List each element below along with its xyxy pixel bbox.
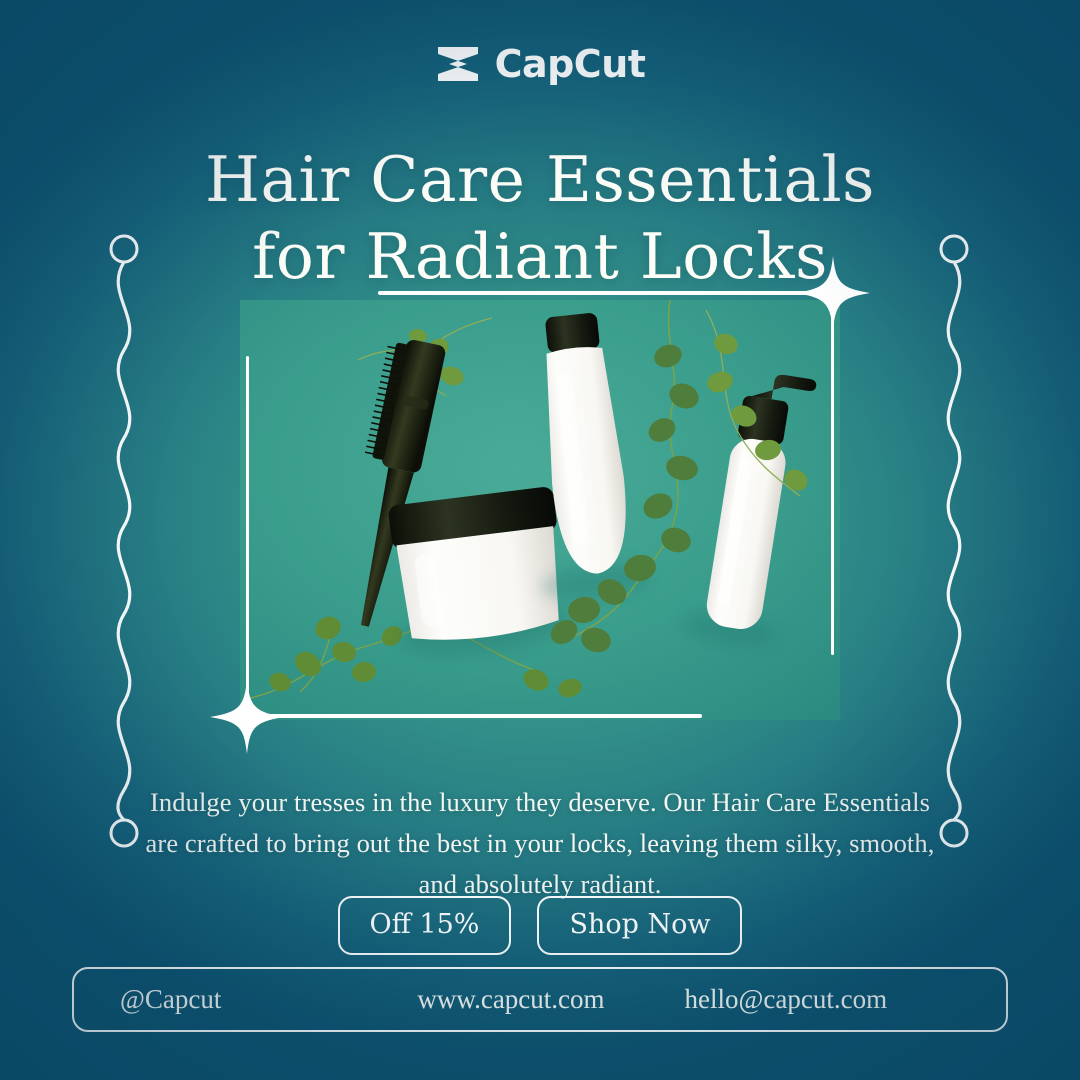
headline-line-1: Hair Care Essentials (205, 143, 875, 216)
capcut-bowtie-icon (435, 44, 481, 84)
description-text: Indulge your tresses in the luxury they … (140, 782, 940, 906)
sparkle-star-bottom-left (210, 680, 284, 754)
product-photo (240, 300, 840, 720)
cta-button-group: Off 15% Shop Now (0, 896, 1080, 955)
frame-line-right (831, 293, 834, 655)
offer-button[interactable]: Off 15% (338, 896, 512, 955)
poster-canvas: CapCut Hair Care Essentials for Radiant … (0, 0, 1080, 1080)
brand-logo: CapCut (0, 44, 1080, 84)
headline-line-2: for Radiant Locks (0, 219, 1080, 296)
page-title: Hair Care Essentials for Radiant Locks (0, 142, 1080, 296)
frame-line-bottom (247, 714, 702, 718)
shop-now-button[interactable]: Shop Now (537, 896, 742, 955)
sparkle-star-top-right (796, 256, 870, 330)
contact-bar: @Capcut www.capcut.com hello@capcut.com (72, 967, 1008, 1032)
cream-jar (384, 486, 574, 662)
frame-line-left (246, 356, 249, 716)
frame-line-top (378, 291, 833, 295)
brand-name: CapCut (495, 45, 646, 83)
website-url[interactable]: www.capcut.com (417, 984, 604, 1015)
email-address[interactable]: hello@capcut.com (685, 984, 888, 1015)
wave-decor-left (92, 232, 156, 850)
wave-decor-right (922, 232, 986, 850)
social-handle[interactable]: @Capcut (120, 984, 221, 1015)
